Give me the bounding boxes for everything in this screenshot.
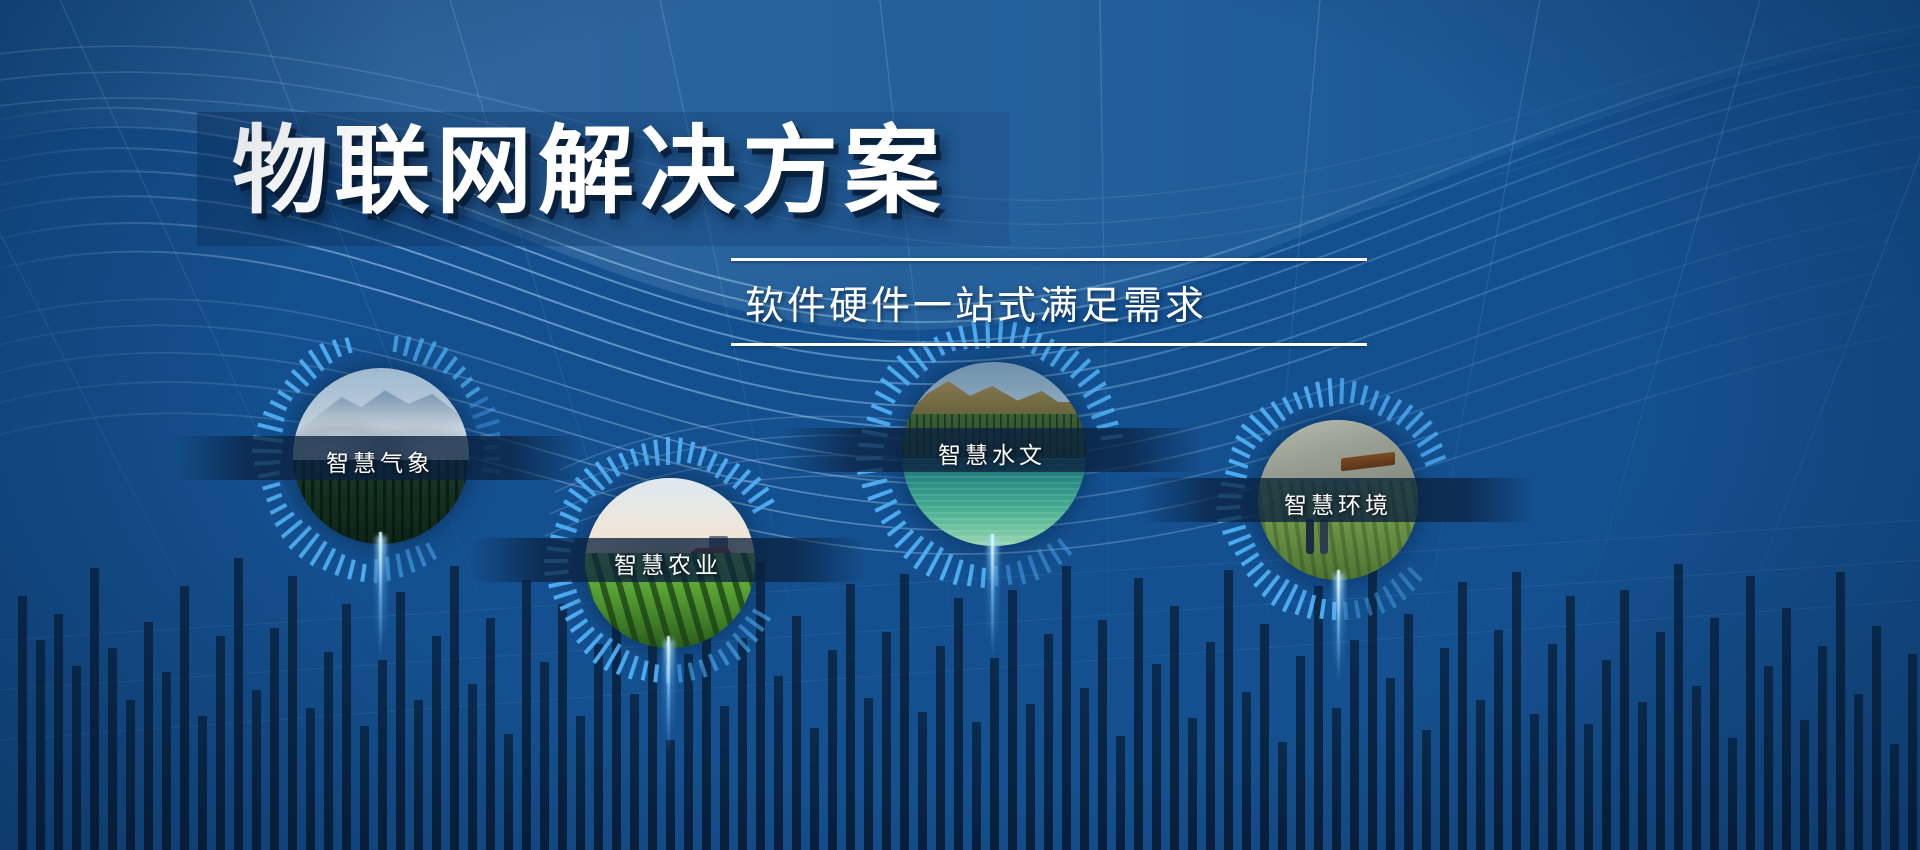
medallion-label-hydrology: 智慧水文 [850,436,1134,470]
medallion-label-weather: 智慧气象 [245,444,515,478]
iot-solution-banner: 智慧气象 [0,0,1920,850]
vignette-overlay [0,0,1920,850]
medallion-label-environment: 智慧环境 [1210,486,1466,520]
medallion-label-agriculture: 智慧农业 [540,546,796,580]
